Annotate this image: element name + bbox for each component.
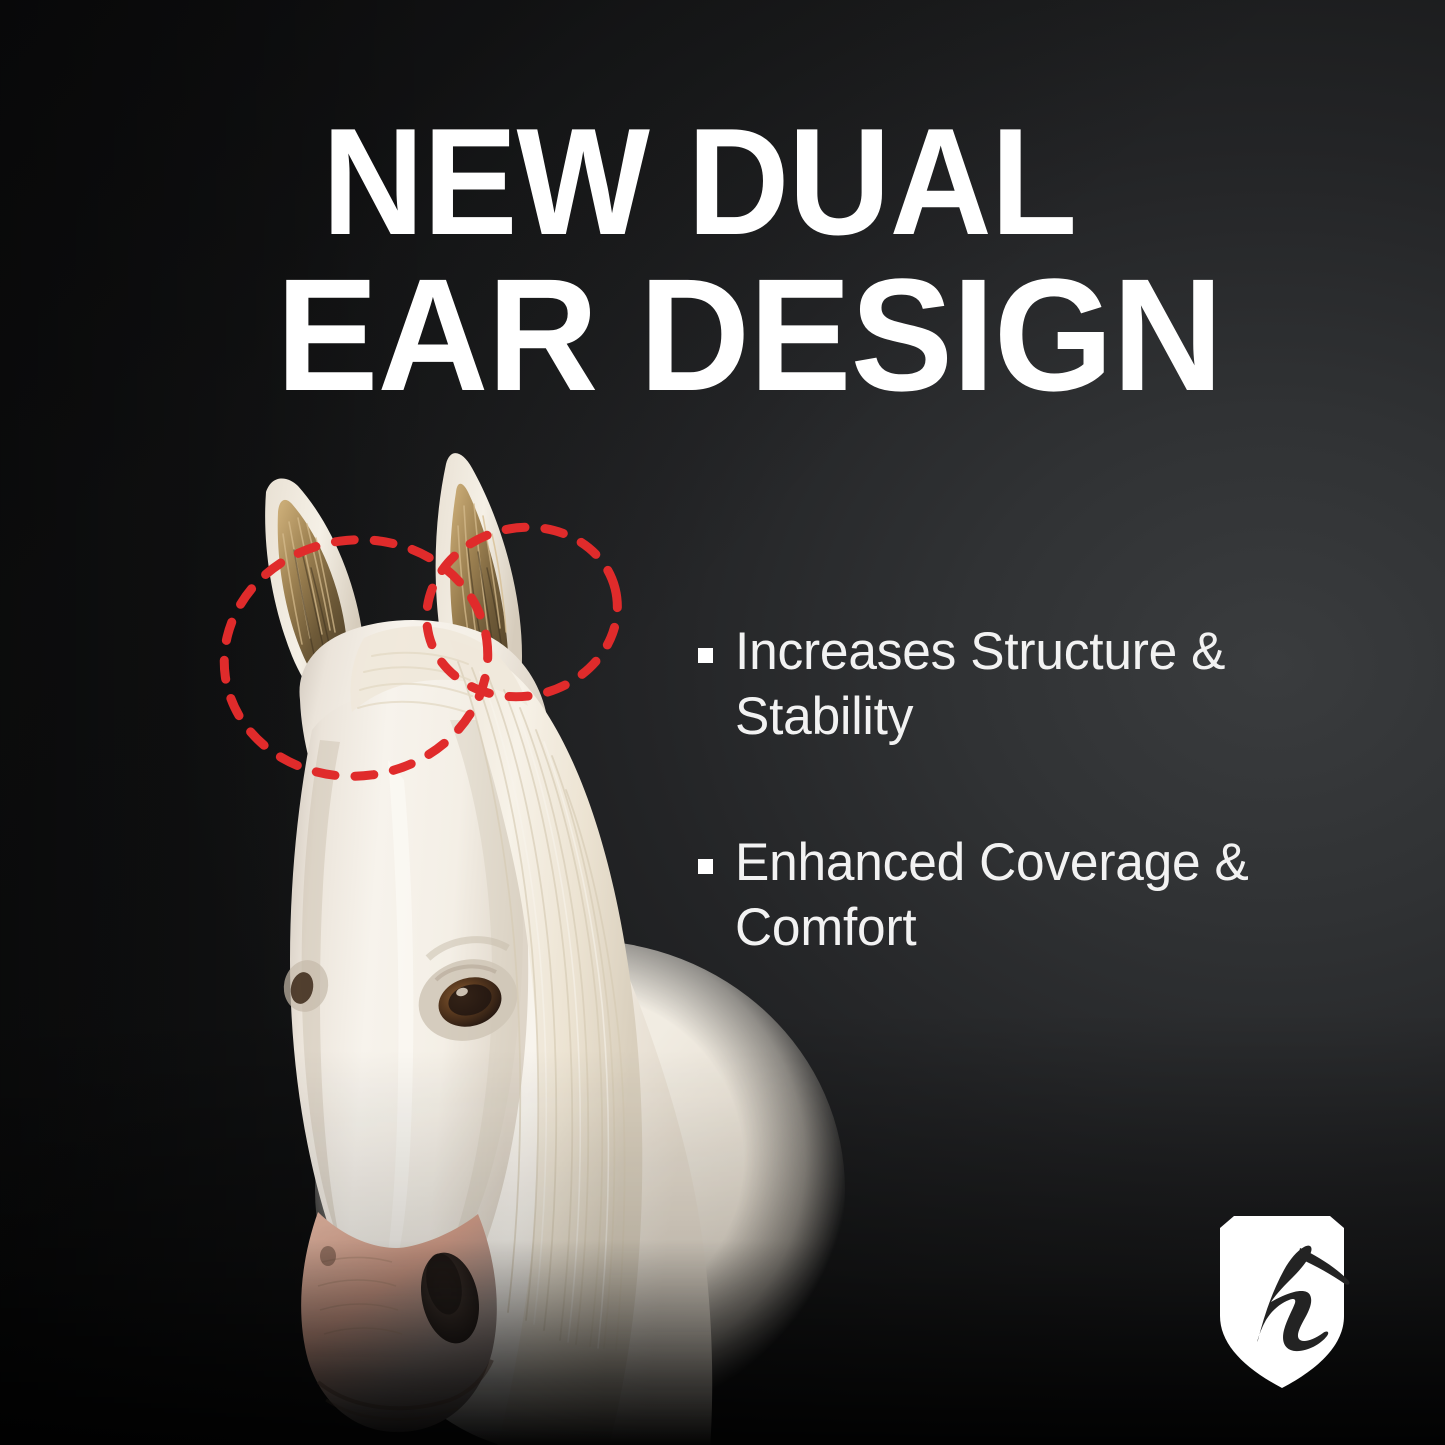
brand-logo <box>1196 1212 1368 1392</box>
list-item: Enhanced Coverage & Comfort <box>698 831 1358 960</box>
headline-line-2: EAR DESIGN <box>276 257 1184 414</box>
bullet-label-2: Enhanced Coverage & Comfort <box>735 831 1339 960</box>
list-item: Increases Structure & Stability <box>698 620 1358 749</box>
advertisement-banner: NEW DUAL EAR DESIGN Increases Structure … <box>0 0 1445 1445</box>
headline: NEW DUAL EAR DESIGN <box>322 108 1222 414</box>
headline-line-1: NEW DUAL <box>322 108 1159 257</box>
feature-bullet-list: Increases Structure & Stability Enhanced… <box>698 620 1358 961</box>
square-bullet-icon <box>698 648 713 663</box>
square-bullet-icon <box>698 859 713 874</box>
bullet-label-1: Increases Structure & Stability <box>735 620 1339 749</box>
